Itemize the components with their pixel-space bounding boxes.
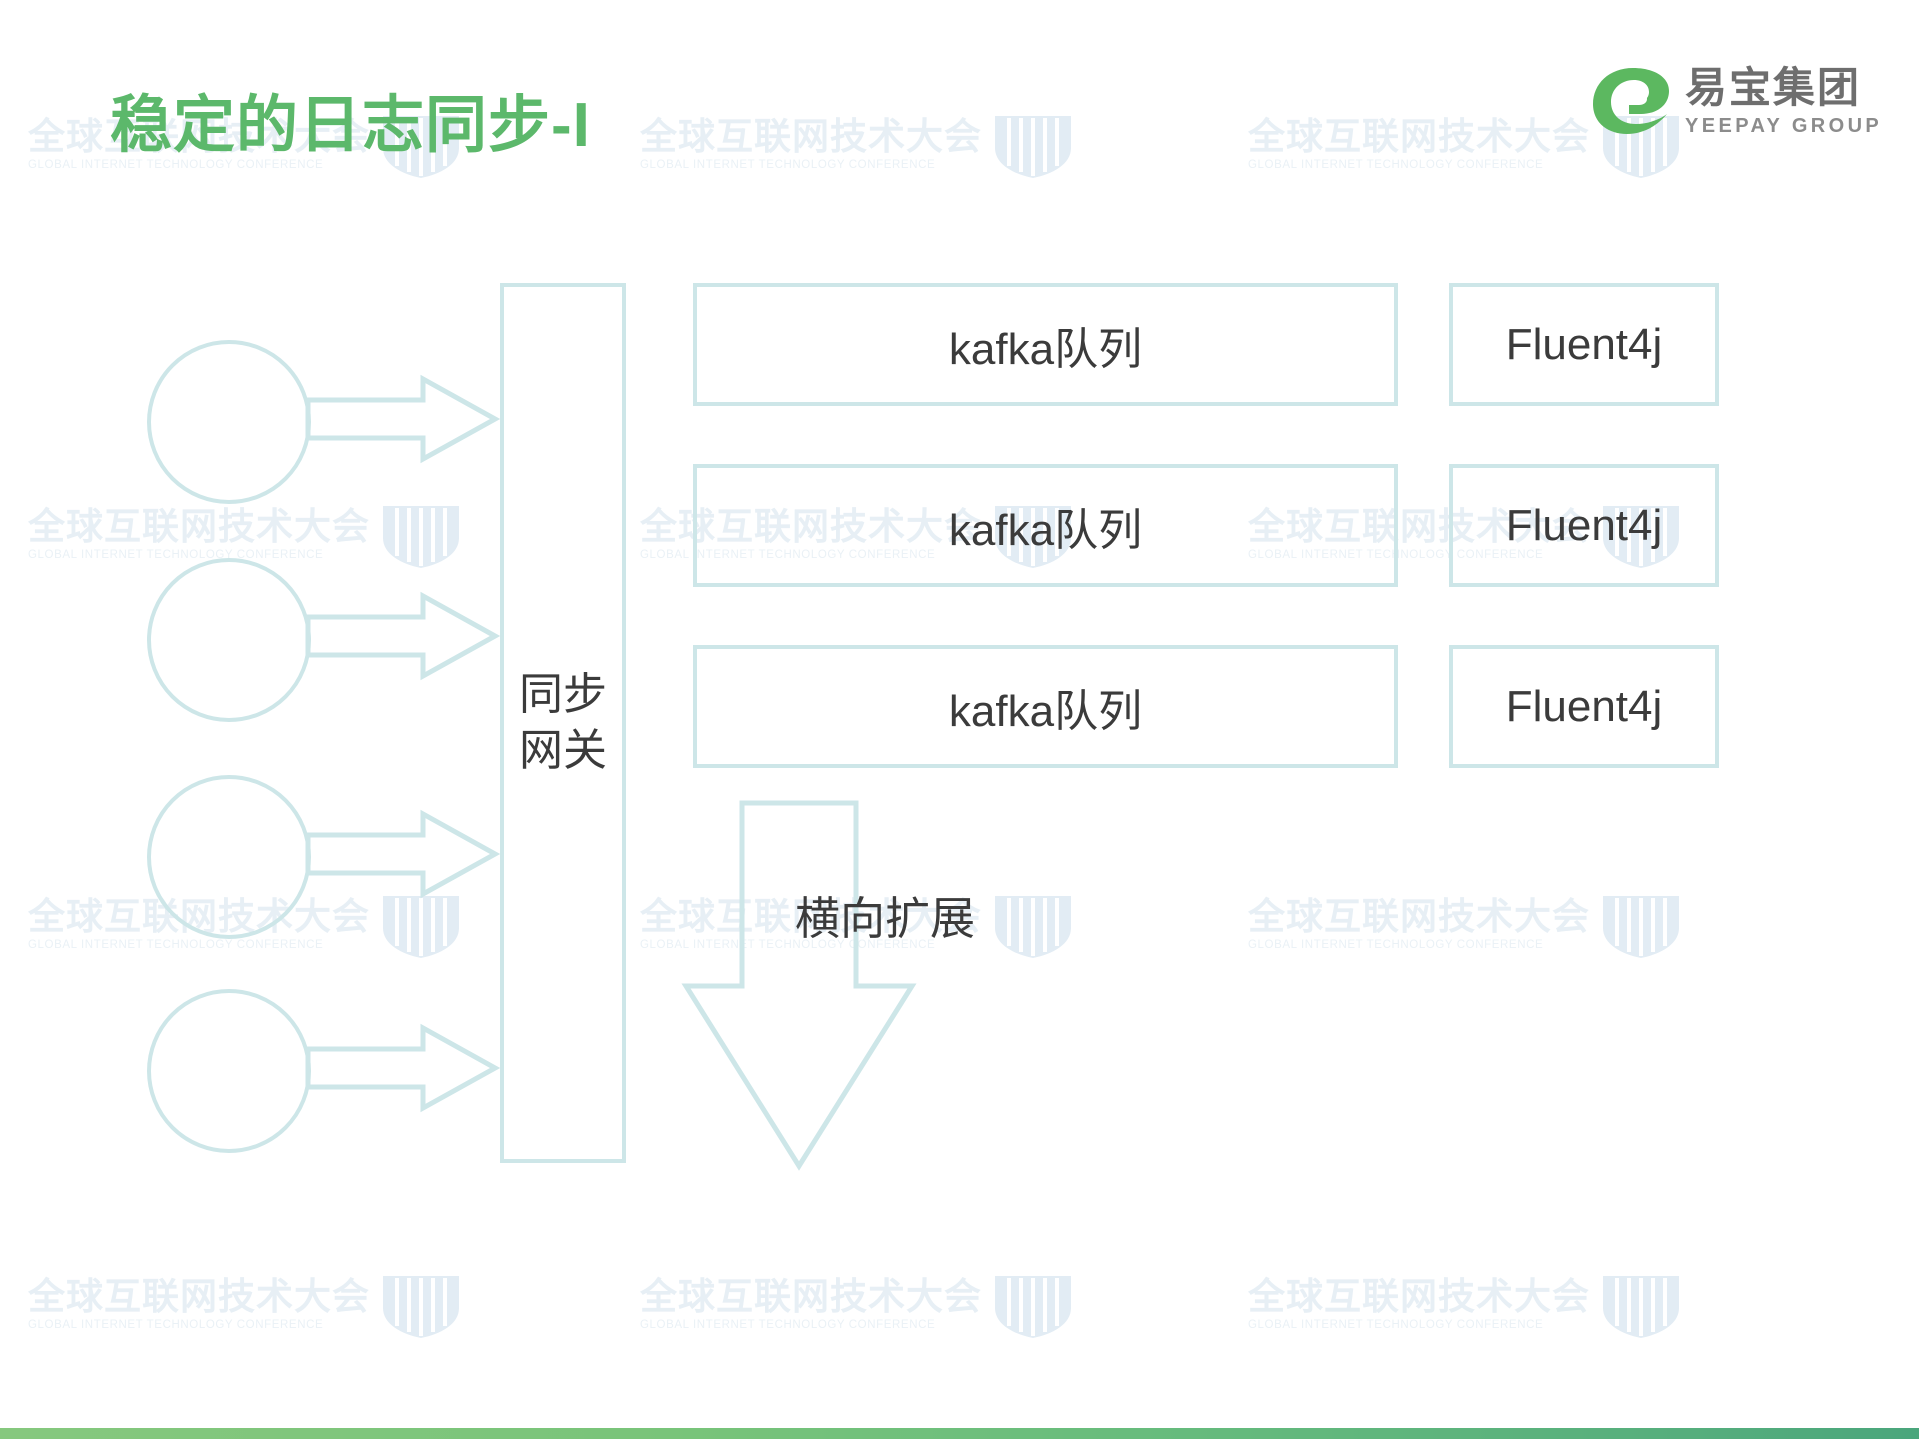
watermark: 全球互联网技术大会 GLOBAL INTERNET TECHNOLOGY CON…: [1248, 898, 1683, 960]
bottom-accent-bar: [0, 1428, 1919, 1439]
watermark: 全球互联网技术大会 GLOBAL INTERNET TECHNOLOGY CON…: [640, 118, 1075, 180]
sync-gateway-label-line1: 同步: [519, 667, 607, 723]
logo-chinese-name: 易宝集团: [1685, 67, 1882, 109]
yeepay-logo: 易宝集团 YEEPAY GROUP: [1589, 57, 1889, 145]
fluent4j-box-2[interactable]: Fluent4j: [1449, 464, 1719, 587]
flow-arrow-right-3: [305, 808, 500, 900]
source-node-4[interactable]: [147, 989, 311, 1153]
sync-gateway-label: 同步 网关: [519, 667, 607, 780]
watermark-english: GLOBAL INTERNET TECHNOLOGY CONFERENCE: [28, 1320, 370, 1332]
kafka-queue-label: kafka队列: [949, 313, 1142, 377]
source-node-1[interactable]: [147, 340, 311, 504]
watermark-english: GLOBAL INTERNET TECHNOLOGY CONFERENCE: [1248, 160, 1590, 172]
shield-icon: [991, 894, 1075, 960]
watermark: 全球互联网技术大会 GLOBAL INTERNET TECHNOLOGY CON…: [640, 1278, 1075, 1340]
fluent4j-label: Fluent4j: [1506, 320, 1663, 370]
watermark-english: GLOBAL INTERNET TECHNOLOGY CONFERENCE: [1248, 1320, 1590, 1332]
shield-icon: [379, 504, 463, 570]
kafka-queue-label: kafka队列: [949, 494, 1142, 558]
fluent4j-label: Fluent4j: [1506, 682, 1663, 732]
sync-gateway-column[interactable]: 同步 网关: [500, 283, 626, 1163]
watermark-chinese: 全球互联网技术大会: [28, 1278, 370, 1315]
logo-english-name: YEEPAY GROUP: [1685, 116, 1882, 136]
shield-icon: [1599, 1274, 1683, 1340]
horizontal-scale-arrow-down-icon: [680, 798, 920, 1173]
shield-icon: [379, 894, 463, 960]
flow-arrow-right-1: [305, 373, 500, 465]
watermark: 全球互联网技术大会 GLOBAL INTERNET TECHNOLOGY CON…: [28, 1278, 463, 1340]
kafka-queue-box-3[interactable]: kafka队列: [693, 645, 1398, 768]
watermark-english: GLOBAL INTERNET TECHNOLOGY CONFERENCE: [28, 550, 370, 562]
watermark-english: GLOBAL INTERNET TECHNOLOGY CONFERENCE: [640, 1320, 982, 1332]
watermark-english: GLOBAL INTERNET TECHNOLOGY CONFERENCE: [1248, 940, 1590, 952]
watermark-chinese: 全球互联网技术大会: [1248, 898, 1590, 935]
watermark-chinese: 全球互联网技术大会: [640, 1278, 982, 1315]
shield-icon: [1599, 894, 1683, 960]
sync-gateway-label-line2: 网关: [519, 723, 607, 779]
fluent4j-label: Fluent4j: [1506, 501, 1663, 551]
shield-icon: [991, 1274, 1075, 1340]
e-swoosh-icon: [1589, 64, 1675, 138]
slide-canvas: 全球互联网技术大会 GLOBAL INTERNET TECHNOLOGY CON…: [0, 0, 1919, 1439]
watermark-chinese: 全球互联网技术大会: [1248, 118, 1590, 155]
shield-icon: [991, 114, 1075, 180]
watermark: 全球互联网技术大会 GLOBAL INTERNET TECHNOLOGY CON…: [1248, 1278, 1683, 1340]
source-node-2[interactable]: [147, 558, 311, 722]
flow-arrow-right-4: [305, 1022, 500, 1114]
shield-icon: [379, 1274, 463, 1340]
watermark-english: GLOBAL INTERNET TECHNOLOGY CONFERENCE: [640, 160, 982, 172]
watermark-chinese: 全球互联网技术大会: [28, 508, 370, 545]
kafka-queue-box-1[interactable]: kafka队列: [693, 283, 1398, 406]
fluent4j-box-3[interactable]: Fluent4j: [1449, 645, 1719, 768]
flow-arrow-right-2: [305, 590, 500, 682]
fluent4j-box-1[interactable]: Fluent4j: [1449, 283, 1719, 406]
source-node-3[interactable]: [147, 775, 311, 939]
watermark-english: GLOBAL INTERNET TECHNOLOGY CONFERENCE: [28, 940, 370, 952]
kafka-queue-box-2[interactable]: kafka队列: [693, 464, 1398, 587]
kafka-queue-label: kafka队列: [949, 675, 1142, 739]
watermark-chinese: 全球互联网技术大会: [640, 118, 982, 155]
watermark-chinese: 全球互联网技术大会: [1248, 1278, 1590, 1315]
horizontal-scale-label: 横向扩展: [795, 882, 975, 947]
page-title: 稳定的日志同步-I: [110, 74, 591, 164]
